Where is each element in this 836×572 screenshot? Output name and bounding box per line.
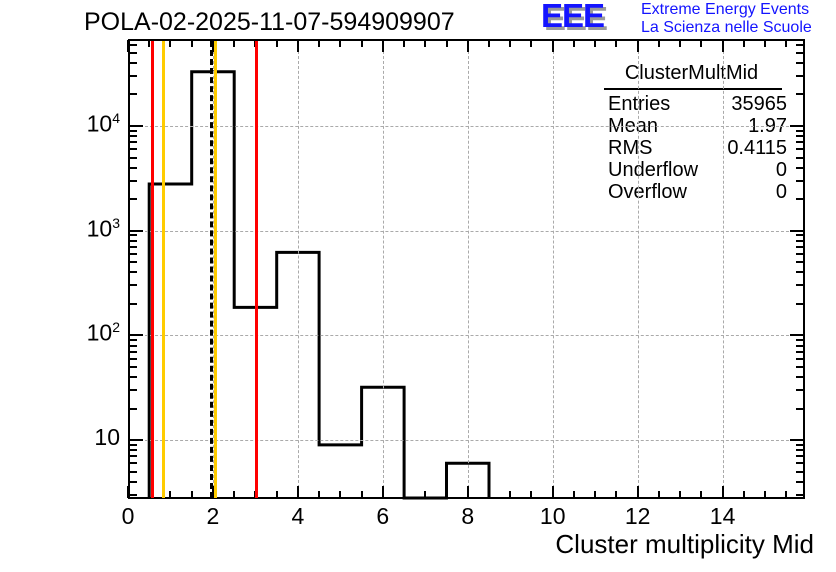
y-axis-tick-right xyxy=(796,75,804,77)
y-axis-tick xyxy=(129,462,137,464)
x-axis-tick xyxy=(764,491,766,498)
x-axis-tick-top xyxy=(615,40,617,47)
x-axis-tick xyxy=(509,491,511,498)
y-axis-tick xyxy=(129,339,137,341)
y-axis-tick xyxy=(129,303,137,305)
y-axis-tick xyxy=(129,449,137,451)
y-axis-tick xyxy=(129,358,137,360)
y-axis-tick-right xyxy=(796,444,804,446)
y-axis-tick-right xyxy=(796,303,804,305)
stats-row: Overflow0 xyxy=(590,181,793,204)
x-axis-tick xyxy=(361,491,363,498)
y-axis-tick xyxy=(129,198,137,200)
y-axis-tick-right xyxy=(796,494,804,496)
x-axis-tick xyxy=(615,491,617,498)
x-axis-title: Cluster multiplicity Mid xyxy=(555,529,814,560)
marker-line-mean-dashed xyxy=(210,41,213,498)
eee-logo: EEE EEE Extreme Energy Events La Scienza… xyxy=(541,2,833,38)
plot-canvas: POLA-02-2025-11-07-594909907 EEE EEE Ext… xyxy=(0,0,836,572)
x-axis-tick xyxy=(191,491,193,498)
y-axis-tick-right xyxy=(796,351,804,353)
y-axis-tick xyxy=(129,230,143,232)
x-axis-label: 2 xyxy=(207,503,220,530)
y-axis-tick xyxy=(129,408,137,410)
y-axis-tick-right xyxy=(796,366,804,368)
y-axis-tick xyxy=(129,439,143,441)
stats-row: Underflow0 xyxy=(590,159,793,182)
marker-line-orange-high xyxy=(214,41,217,498)
x-axis-tick-top xyxy=(679,40,681,47)
x-axis-tick xyxy=(785,491,787,498)
x-axis-label: 10 xyxy=(540,503,566,530)
stats-row-value: 35965 xyxy=(731,93,787,116)
x-axis-label: 12 xyxy=(625,503,651,530)
x-axis-tick xyxy=(594,491,596,498)
y-axis-tick-right xyxy=(790,439,804,441)
y-axis-tick xyxy=(129,494,137,496)
marker-line-red-low xyxy=(151,41,154,498)
y-axis-tick xyxy=(129,376,137,378)
y-axis-tick-right xyxy=(790,125,804,127)
marker-line-red-high xyxy=(255,41,258,498)
y-axis-tick-right xyxy=(796,62,804,64)
gridline-horizontal xyxy=(130,440,804,441)
y-axis-tick xyxy=(129,334,143,336)
y-axis-tick-right xyxy=(796,234,804,236)
stats-box-divider xyxy=(604,88,782,90)
x-axis-tick-top xyxy=(233,40,235,47)
stats-row: RMS0.4115 xyxy=(590,137,793,160)
y-axis-tick xyxy=(129,444,137,446)
y-axis-tick xyxy=(129,471,137,473)
y-axis-tick xyxy=(129,130,137,132)
x-axis-tick-top xyxy=(530,40,532,47)
y-axis-tick xyxy=(129,234,137,236)
y-axis-tick xyxy=(129,455,137,457)
y-axis-tick xyxy=(129,52,137,54)
x-axis-tick-top xyxy=(743,40,745,47)
y-axis-tick xyxy=(129,261,137,263)
gridline-horizontal xyxy=(130,231,804,232)
y-axis-tick xyxy=(129,62,137,64)
y-axis-tick xyxy=(129,240,137,242)
x-axis-tick-top xyxy=(169,40,171,47)
x-axis-label: 14 xyxy=(710,503,736,530)
y-axis-tick-right xyxy=(796,376,804,378)
x-axis-tick-top xyxy=(276,40,278,47)
y-axis-tick-right xyxy=(796,481,804,483)
y-axis-tick-right xyxy=(796,180,804,182)
x-axis-tick xyxy=(403,491,405,498)
stats-box: ClusterMultMid Entries35965Mean1.97RMS0.… xyxy=(590,62,793,202)
y-axis-tick xyxy=(129,125,143,127)
x-axis-tick-top xyxy=(658,40,660,47)
stats-row-value: 0 xyxy=(776,159,787,182)
y-axis-tick-right xyxy=(796,246,804,248)
y-axis-tick-right xyxy=(796,261,804,263)
x-axis-tick xyxy=(552,486,554,498)
x-axis-label: 8 xyxy=(461,503,474,530)
eee-logo-mark-text: EEE xyxy=(541,0,604,32)
x-axis-tick-top xyxy=(403,40,405,47)
y-axis-tick-right xyxy=(796,52,804,54)
stats-row-key: Overflow xyxy=(608,181,687,204)
y-axis-tick-right xyxy=(796,253,804,255)
page-title: POLA-02-2025-11-07-594909907 xyxy=(84,8,455,37)
stats-row-value: 0.4115 xyxy=(727,137,787,160)
x-axis-tick xyxy=(743,491,745,498)
y-axis-tick-right xyxy=(796,93,804,95)
y-axis-tick-right xyxy=(796,462,804,464)
gridline-vertical xyxy=(383,41,384,498)
y-axis-tick-right xyxy=(796,135,804,137)
y-axis-tick-right xyxy=(796,198,804,200)
x-axis-tick-top xyxy=(127,40,129,52)
x-axis-tick xyxy=(339,491,341,498)
x-axis-tick-top xyxy=(467,40,469,52)
y-axis-tick xyxy=(129,345,137,347)
y-axis-tick xyxy=(129,44,137,46)
gridline-horizontal xyxy=(130,335,804,336)
x-axis-tick-top xyxy=(382,40,384,52)
x-axis-tick-top xyxy=(191,40,193,47)
y-axis-tick xyxy=(129,389,137,391)
gridline-horizontal xyxy=(130,126,804,127)
x-axis-tick-top xyxy=(318,40,320,47)
stats-row-key: Underflow xyxy=(608,159,698,182)
y-axis-tick xyxy=(129,141,137,143)
marker-line-orange-low xyxy=(162,41,165,498)
x-axis-label: 0 xyxy=(122,503,135,530)
stats-row-value: 0 xyxy=(776,181,787,204)
y-axis-tick xyxy=(129,246,137,248)
x-axis-tick xyxy=(233,491,235,498)
y-axis-tick-right xyxy=(796,167,804,169)
y-axis-tick-right xyxy=(796,449,804,451)
gridline-vertical xyxy=(468,41,469,498)
y-axis-tick xyxy=(129,253,137,255)
gridline-vertical xyxy=(298,41,299,498)
y-axis-tick-right xyxy=(796,44,804,46)
y-axis-tick-right xyxy=(796,141,804,143)
y-axis-tick-right xyxy=(796,284,804,286)
y-axis-tick-right xyxy=(796,271,804,273)
y-axis-tick-right xyxy=(796,408,804,410)
gridline-vertical xyxy=(638,41,639,498)
x-axis-tick xyxy=(169,491,171,498)
y-axis-tick xyxy=(129,351,137,353)
x-axis-tick-top xyxy=(573,40,575,47)
y-axis-tick xyxy=(129,284,137,286)
y-axis-tick xyxy=(129,135,137,137)
y-axis-tick-right xyxy=(796,471,804,473)
x-axis-tick-top xyxy=(637,40,639,52)
x-axis-tick xyxy=(318,491,320,498)
stats-row-key: RMS xyxy=(608,137,652,160)
x-axis-tick-top xyxy=(700,40,702,47)
stats-row-key: Entries xyxy=(608,93,670,116)
x-axis-tick xyxy=(573,491,575,498)
y-axis-tick-right xyxy=(796,345,804,347)
x-axis-tick-top xyxy=(764,40,766,47)
y-axis-tick xyxy=(129,93,137,95)
x-axis-tick-top xyxy=(339,40,341,47)
y-axis-tick-right xyxy=(790,334,804,336)
y-axis-tick-right xyxy=(796,455,804,457)
y-axis-tick-right xyxy=(796,339,804,341)
y-axis-tick xyxy=(129,271,137,273)
y-axis-tick-right xyxy=(796,148,804,150)
y-axis-tick xyxy=(129,157,137,159)
y-axis-label: 104 xyxy=(40,110,120,138)
x-axis-tick-top xyxy=(594,40,596,47)
x-axis-tick xyxy=(446,491,448,498)
y-axis-tick-right xyxy=(796,358,804,360)
x-axis-tick xyxy=(679,491,681,498)
y-axis-tick xyxy=(129,180,137,182)
x-axis-label: 6 xyxy=(376,503,389,530)
x-axis-tick xyxy=(530,491,532,498)
x-axis-tick xyxy=(127,486,129,498)
y-axis-label: 10 xyxy=(40,424,120,451)
y-axis-tick-right xyxy=(796,130,804,132)
x-axis-tick-top xyxy=(785,40,787,47)
y-axis-tick-right xyxy=(790,230,804,232)
eee-logo-line1: Extreme Energy Events xyxy=(641,1,809,19)
stats-box-title: ClusterMultMid xyxy=(590,62,793,85)
x-axis-tick-top xyxy=(446,40,448,47)
y-axis-label: 103 xyxy=(40,215,120,243)
y-axis-tick-right xyxy=(796,240,804,242)
x-axis-tick xyxy=(297,486,299,498)
y-axis-tick xyxy=(129,481,137,483)
y-axis-tick xyxy=(129,75,137,77)
y-axis-label: 102 xyxy=(40,319,120,347)
y-axis-tick xyxy=(129,167,137,169)
x-axis-tick xyxy=(722,486,724,498)
x-axis-tick-top xyxy=(361,40,363,47)
x-axis-tick-top xyxy=(488,40,490,47)
x-axis-tick xyxy=(488,491,490,498)
x-axis-tick xyxy=(424,491,426,498)
x-axis-tick-top xyxy=(552,40,554,52)
x-axis-label: 4 xyxy=(291,503,304,530)
y-axis-tick-right xyxy=(796,389,804,391)
x-axis-tick xyxy=(637,486,639,498)
x-axis-tick xyxy=(658,491,660,498)
x-axis-tick-top xyxy=(297,40,299,52)
eee-logo-mark: EEE EEE xyxy=(541,3,633,35)
x-axis-tick-top xyxy=(722,40,724,52)
x-axis-tick xyxy=(467,486,469,498)
eee-logo-line2: La Scienza nelle Scuole xyxy=(641,19,812,37)
x-axis-tick xyxy=(700,491,702,498)
y-axis-tick xyxy=(129,366,137,368)
x-axis-tick xyxy=(382,486,384,498)
x-axis-tick-top xyxy=(509,40,511,47)
y-axis-tick-right xyxy=(796,157,804,159)
stats-row: Entries35965 xyxy=(590,93,793,116)
gridline-vertical xyxy=(723,41,724,498)
y-axis-tick xyxy=(129,148,137,150)
x-axis-tick xyxy=(276,491,278,498)
gridline-vertical xyxy=(553,41,554,498)
x-axis-tick-top xyxy=(424,40,426,47)
